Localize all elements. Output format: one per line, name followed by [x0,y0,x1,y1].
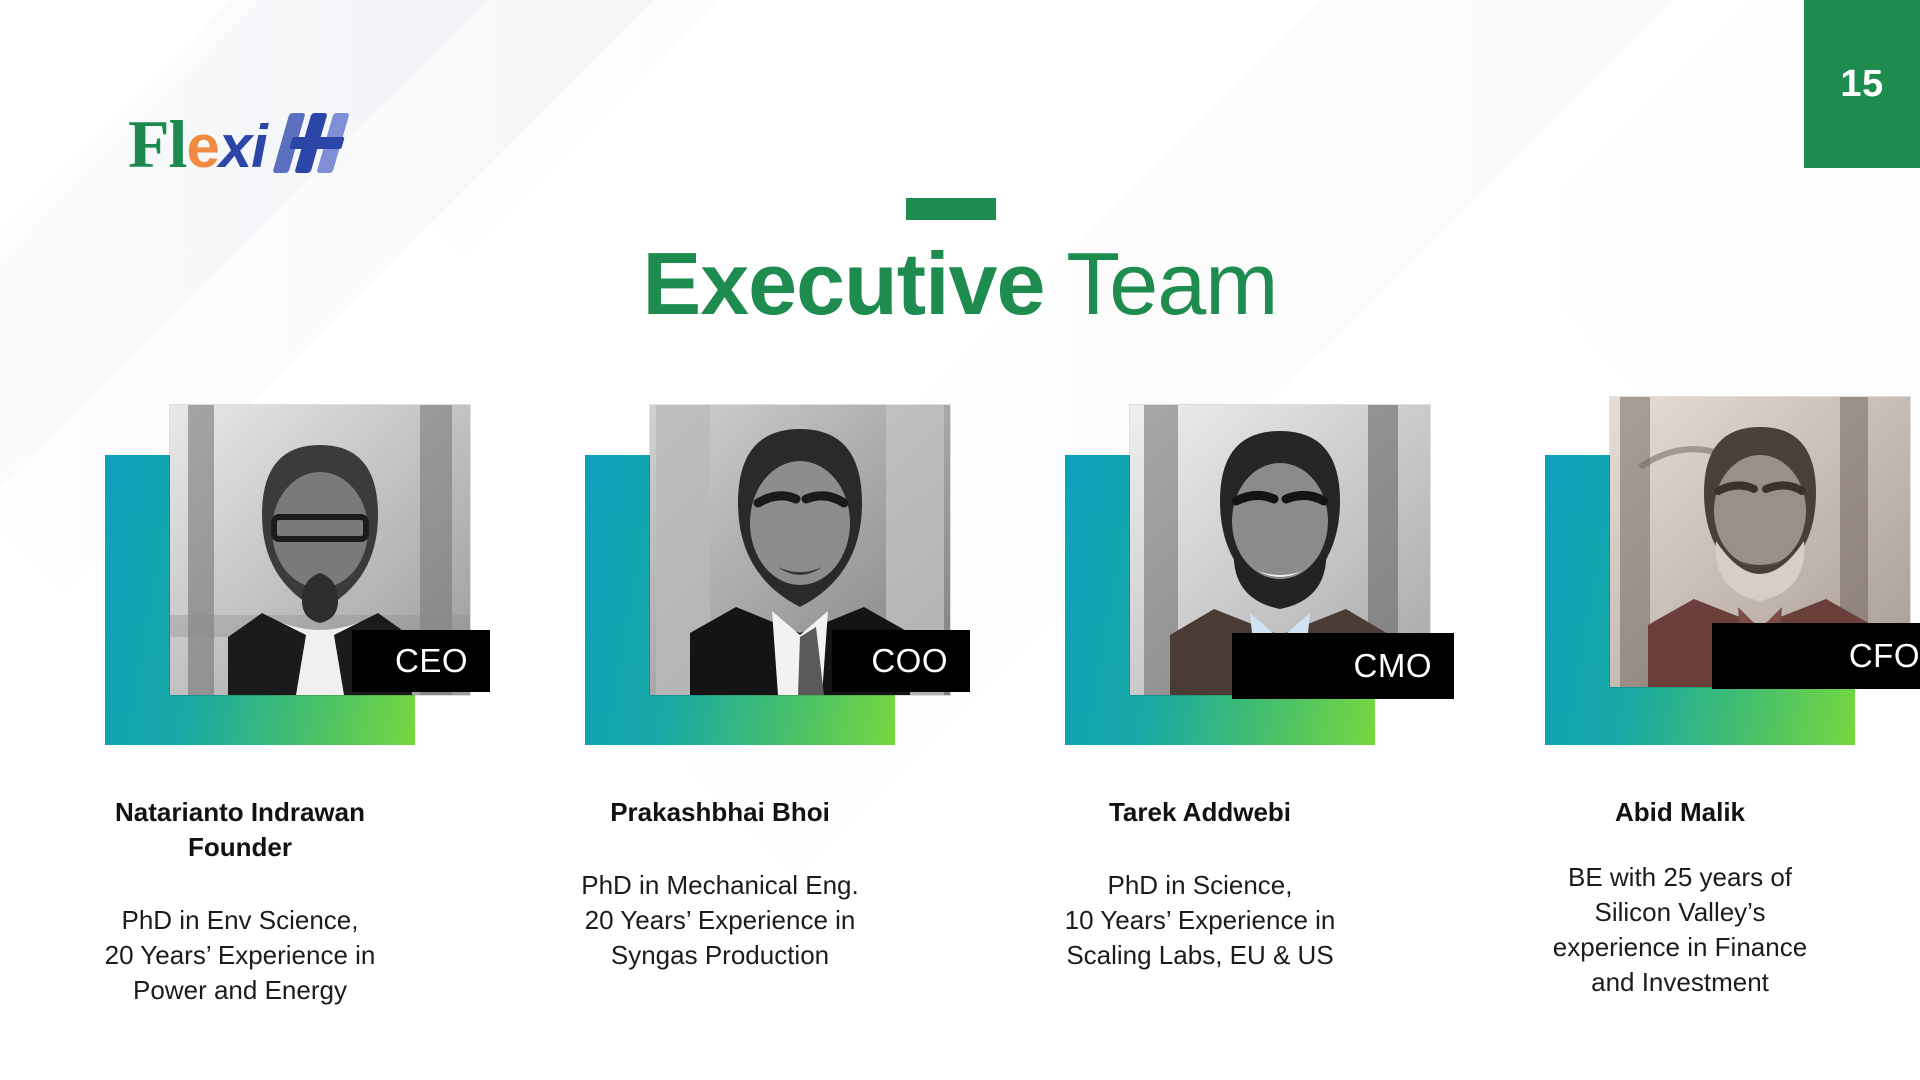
member-name: Abid Malik [1480,795,1880,830]
page-number-value: 15 [1840,63,1883,106]
member-photo-block: CEO [0,405,480,755]
member-photo-block: CFO [1440,405,1920,755]
team-member-card: COO Prakashbhai Bhoi PhD in Mechanical E… [480,405,960,1008]
role-badge: COO [832,630,970,692]
logo-text-fl: Fl [128,110,186,178]
logo-text-e: e [186,117,218,177]
member-text-block: Natarianto Indrawan Founder PhD in Env S… [0,795,480,1008]
team-member-card: CFO Abid Malik BE with 25 years of Silic… [1440,405,1920,1008]
executive-team-row: CEO Natarianto Indrawan Founder PhD in E… [0,405,1920,1008]
page-title-light: Team [1044,234,1277,333]
title-accent-dash [906,198,996,220]
member-text-block: Abid Malik BE with 25 years of Silicon V… [1440,795,1920,1000]
member-text-block: Tarek Addwebi PhD in Science, 10 Years’ … [960,795,1440,973]
member-bio: PhD in Science, 10 Years’ Experience in … [1000,868,1400,973]
member-name: Natarianto Indrawan Founder [40,795,440,865]
member-photo-block: COO [480,405,960,755]
team-member-card: CMO Tarek Addwebi PhD in Science, 10 Yea… [960,405,1440,1008]
member-bio: BE with 25 years of Silicon Valley’s exp… [1480,860,1880,1000]
member-name: Tarek Addwebi [1000,795,1400,830]
role-badge: CEO [352,630,490,692]
member-bio: PhD in Mechanical Eng. 20 Years’ Experie… [520,868,920,973]
flexi-h-mark-icon [277,113,359,175]
logo-text-xi: xi [219,117,267,177]
role-badge: CMO [1232,633,1454,699]
role-badge: CFO [1712,623,1920,689]
page-number-badge: 15 [1804,0,1920,168]
page-title-strong: Executive [643,234,1045,333]
brand-logo: Fl e xi [128,110,359,178]
member-photo-block: CMO [960,405,1440,755]
page-title: Executive Team [0,240,1920,328]
team-member-card: CEO Natarianto Indrawan Founder PhD in E… [0,405,480,1008]
member-name: Prakashbhai Bhoi [520,795,920,830]
member-bio: PhD in Env Science, 20 Years’ Experience… [40,903,440,1008]
member-text-block: Prakashbhai Bhoi PhD in Mechanical Eng. … [480,795,960,973]
